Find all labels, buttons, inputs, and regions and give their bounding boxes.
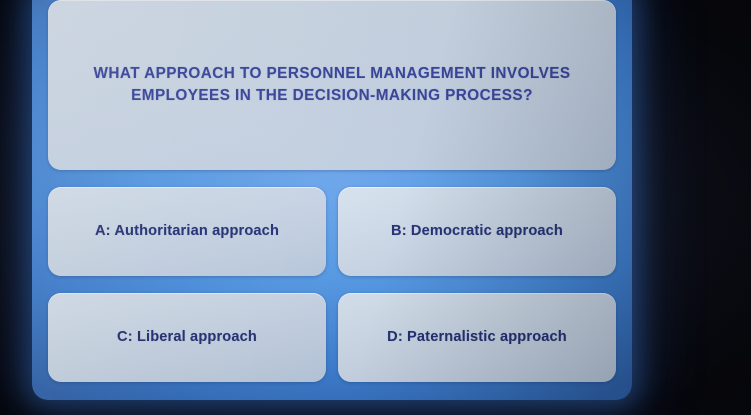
option-b-button[interactable]: B: Democratic approach: [338, 187, 616, 276]
option-d-label: D: Paternalistic approach: [387, 327, 567, 348]
photographed-screen: WHAT APPROACH TO PERSONNEL MANAGEMENT IN…: [0, 0, 751, 415]
option-b-label: B: Democratic approach: [391, 221, 563, 242]
question-card: WHAT APPROACH TO PERSONNEL MANAGEMENT IN…: [48, 0, 616, 170]
option-a-button[interactable]: A: Authoritarian approach: [48, 187, 326, 276]
options-row-2: C: Liberal approach D: Paternalistic app…: [48, 293, 616, 382]
options-row-1: A: Authoritarian approach B: Democratic …: [48, 187, 616, 276]
option-d-button[interactable]: D: Paternalistic approach: [338, 293, 616, 382]
quiz-panel-content: WHAT APPROACH TO PERSONNEL MANAGEMENT IN…: [48, 0, 616, 382]
option-c-button[interactable]: C: Liberal approach: [48, 293, 326, 382]
question-text: WHAT APPROACH TO PERSONNEL MANAGEMENT IN…: [82, 63, 582, 106]
option-a-label: A: Authoritarian approach: [95, 221, 279, 242]
quiz-panel: WHAT APPROACH TO PERSONNEL MANAGEMENT IN…: [32, 0, 632, 400]
option-c-label: C: Liberal approach: [117, 327, 257, 348]
